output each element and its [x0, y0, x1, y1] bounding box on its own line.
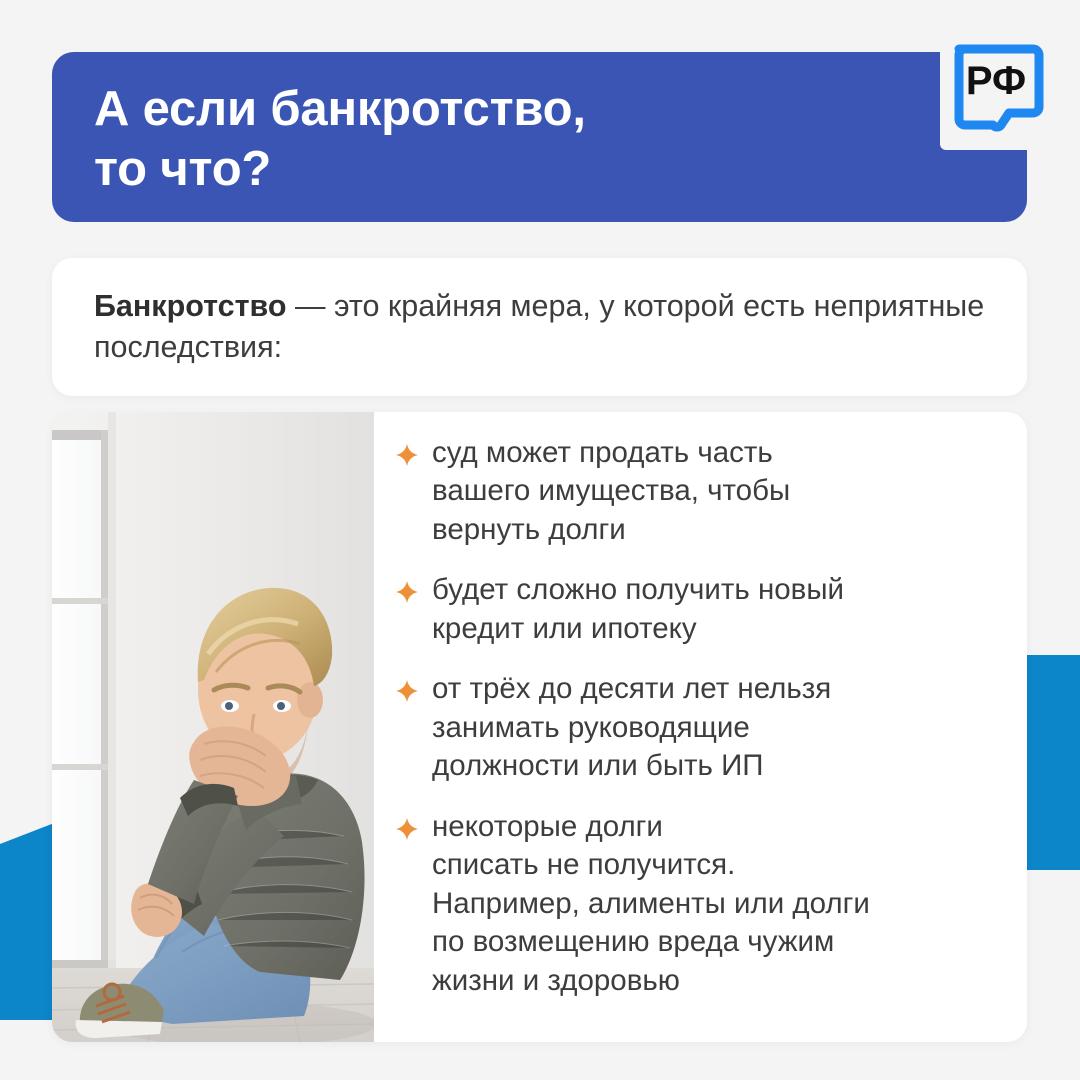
rf-logo: РФ: [940, 32, 1052, 150]
header-banner: А если банкротство, то что?: [52, 52, 1027, 222]
speech-bubble-icon: РФ: [945, 37, 1047, 145]
infographic-page: А если банкротство, то что? РФ Банкротст…: [0, 0, 1080, 1080]
page-title: А если банкротство, то что?: [94, 80, 989, 200]
list-item-label: суд может продать часть вашего имущества…: [432, 434, 790, 549]
list-item: от трёх до десяти лет нельзя занимать ру…: [396, 670, 993, 785]
list-item-label: будет сложно получить новый кредит или и…: [432, 571, 844, 648]
intro-text: Банкротство — это крайняя мера, у которо…: [94, 286, 985, 368]
logo-text: РФ: [966, 59, 1026, 103]
diamond-bullet-icon: [396, 581, 418, 603]
list-item-label: от трёх до десяти лет нельзя занимать ру…: [432, 670, 831, 785]
list-item: некоторые долги списать не получится. На…: [396, 808, 993, 1000]
worried-man-photo: [52, 412, 374, 1042]
photo-illustration: [52, 412, 374, 1042]
intro-card: Банкротство — это крайняя мера, у которо…: [52, 258, 1027, 396]
list-item: будет сложно получить новый кредит или и…: [396, 571, 993, 648]
consequences-list: суд может продать часть вашего имущества…: [374, 412, 1027, 1042]
diamond-bullet-icon: [396, 680, 418, 702]
list-item: суд может продать часть вашего имущества…: [396, 434, 993, 549]
content-card: суд может продать часть вашего имущества…: [52, 412, 1027, 1042]
diamond-bullet-icon: [396, 818, 418, 840]
diamond-bullet-icon: [396, 444, 418, 466]
list-item-label: некоторые долги списать не получится. На…: [432, 808, 870, 1000]
intro-lead: Банкротство: [94, 289, 287, 323]
